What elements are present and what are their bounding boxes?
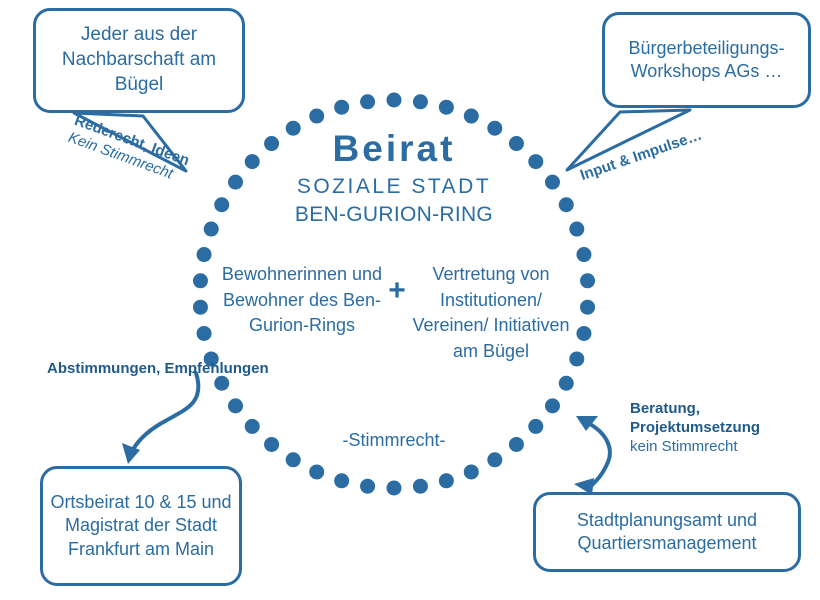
ring-dot: [193, 300, 208, 315]
center-column-residents: Bewohnerinnen und Bewohner des Ben-Gurio…: [218, 262, 386, 339]
ring-dot: [559, 376, 574, 391]
ring-dot: [334, 100, 349, 115]
ring-dot: [576, 326, 591, 341]
arrow-abstimmungen-path: [131, 373, 198, 453]
ring-dot: [228, 175, 243, 190]
ring-dot: [387, 93, 402, 108]
ring-dot: [439, 473, 454, 488]
subtitle-ben-gurion-ring: BEN-GURION-RING: [264, 203, 524, 227]
page-title: Beirat: [264, 128, 524, 170]
ring-dot: [569, 222, 584, 237]
label-beratung-regular: kein Stimmrecht: [630, 438, 820, 457]
ring-dot: [413, 479, 428, 494]
ring-dot: [245, 154, 260, 169]
ring-dot: [197, 247, 212, 262]
ring-dot: [413, 94, 428, 109]
center-column-institutions: Vertretung von Institutionen/ Vereinen/ …: [410, 262, 572, 364]
label-beratung-bold: Beratung, Projektumsetzung: [630, 400, 820, 438]
box-ortsbeirat-magistrat[interactable]: Ortsbeirat 10 & 15 und Magistrat der Sta…: [40, 466, 242, 586]
ring-dot: [286, 452, 301, 467]
ring-dot: [439, 100, 454, 115]
ring-dot: [545, 398, 560, 413]
speech-bubble-workshops-text: Bürgerbeteiligungs- Workshops AGs …: [605, 37, 808, 84]
box-stadtplanungsamt-text: Stadtplanungsamt und Quartiersmanagement: [536, 509, 798, 556]
ring-dot: [264, 437, 279, 452]
ring-dot: [214, 197, 229, 212]
ring-dot: [580, 273, 595, 288]
ring-dot: [197, 326, 212, 341]
ring-dot: [245, 419, 260, 434]
ring-dot: [228, 398, 243, 413]
subtitle-soziale-stadt: SOZIALE STADT: [264, 175, 524, 199]
ring-dot: [464, 464, 479, 479]
ring-dot: [509, 437, 524, 452]
speech-bubble-neighbourhood[interactable]: Jeder aus der Nachbarschaft am Bügel: [33, 8, 245, 113]
ring-dot: [193, 273, 208, 288]
ring-dot: [360, 479, 375, 494]
diagram-canvas: Jeder aus der Nachbarschaft am Bügel Bür…: [0, 0, 820, 600]
box-stadtplanungsamt[interactable]: Stadtplanungsamt und Quartiersmanagement: [533, 492, 801, 572]
ring-dot: [360, 94, 375, 109]
ring-dot: [334, 473, 349, 488]
ring-dot: [576, 247, 591, 262]
ring-dot: [464, 109, 479, 124]
ring-dot: [528, 154, 543, 169]
ring-dot: [545, 175, 560, 190]
speech-bubble-neighbourhood-text: Jeder aus der Nachbarschaft am Bügel: [36, 23, 242, 97]
ring-dot: [580, 300, 595, 315]
speech-bubble-workshops[interactable]: Bürgerbeteiligungs- Workshops AGs …: [602, 12, 811, 108]
ring-dot: [309, 464, 324, 479]
ring-dot: [528, 419, 543, 434]
center-footer-voting-right: -Stimmrecht-: [294, 430, 494, 451]
ring-dot: [309, 109, 324, 124]
box-ortsbeirat-text: Ortsbeirat 10 & 15 und Magistrat der Sta…: [43, 491, 239, 561]
ring-dot: [559, 197, 574, 212]
label-abstimmungen: Abstimmungen, Empfehlungen: [47, 360, 269, 379]
ring-dot: [204, 222, 219, 237]
label-beratung: Beratung, Projektumsetzung kein Stimmrec…: [630, 400, 820, 457]
ring-dot: [487, 452, 502, 467]
ring-dot: [387, 481, 402, 496]
arrow-beratung-path: [588, 423, 610, 487]
